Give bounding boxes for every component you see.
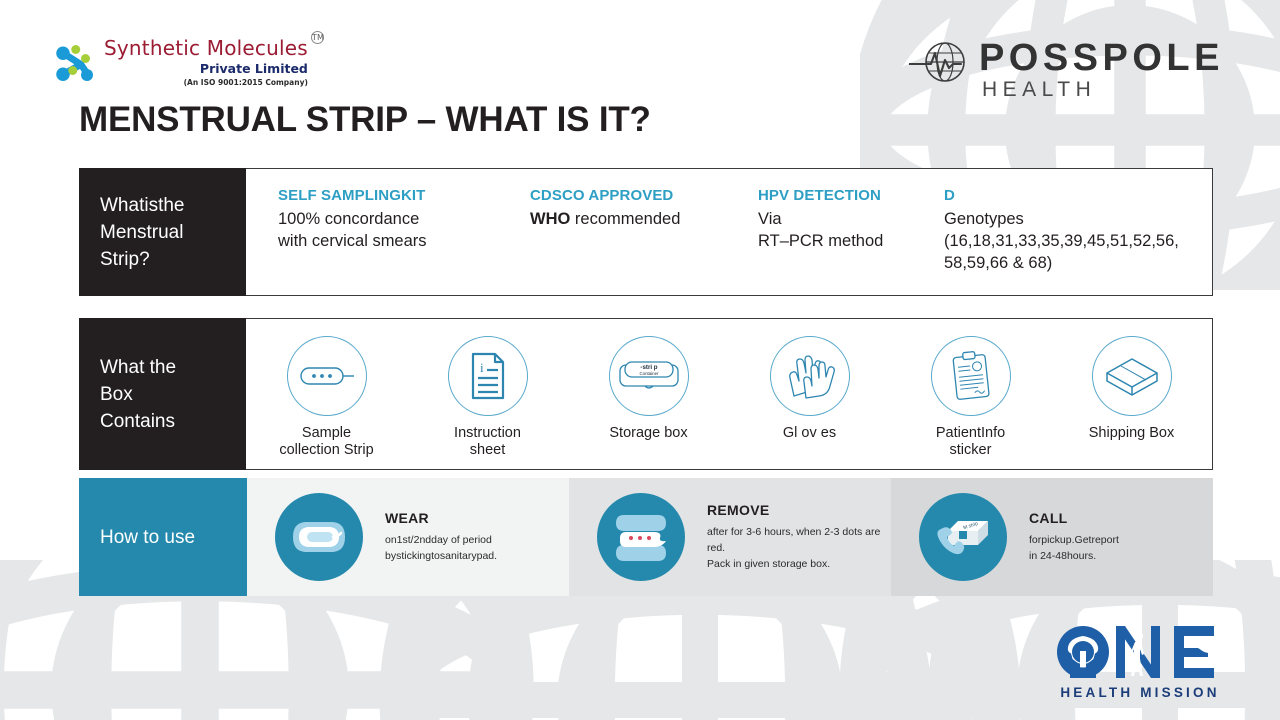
feature-body: 100% concordance with cervical smears — [278, 208, 530, 252]
box-item-sample-collection-strip: Sample collection Strip — [246, 336, 407, 459]
row3-label: How to use — [79, 478, 247, 596]
row-what-the-box-contains: What the Box Contains Sample — [79, 318, 1213, 470]
phone-package-icon: M strip — [928, 511, 998, 563]
step-text: WEAR on1st/2ndday of period bystickingto… — [385, 510, 497, 564]
row2-content: Sample collection Strip i — [246, 319, 1212, 469]
box-item-gloves: Gl ov es — [729, 336, 890, 442]
caption-line: Shipping Box — [1089, 425, 1174, 442]
row-how-to-use: How to use WEAR on1st/2ndday of period b… — [79, 478, 1213, 596]
row1-content: SELF SAMPLINGKIT 100% concordance with c… — [246, 169, 1212, 295]
box-item-caption: Storage box — [609, 425, 687, 442]
storage-box-icon: -stri p Container — [616, 359, 682, 393]
row1-label-line-2: Menstrual — [100, 219, 184, 246]
logo-company-name-text: Synthetic Molecules — [104, 36, 308, 60]
logo-company-name: Synthetic Molecules TM — [104, 36, 308, 60]
logo-company-subtitle: Private Limited — [104, 61, 308, 76]
instruction-sheet-icon: i — [467, 351, 509, 401]
row2-label-line-2: Box — [100, 381, 176, 408]
one-health-mission-subtitle: HEALTH MISSION — [1056, 685, 1224, 700]
step-icon-frame: M strip — [919, 493, 1007, 581]
step-line: on1st/2ndday of period — [385, 532, 497, 548]
posspole-health-logo: POSSPOLE HEALTH — [909, 38, 1224, 102]
feature-bold-token: WHO — [530, 210, 570, 228]
box-item-instruction-sheet: i Instruction sheet — [407, 336, 568, 459]
step-call: M strip CALL forpickup.Getreport in 24-4… — [891, 478, 1213, 596]
feature-line: recommended — [570, 210, 680, 228]
feature-body: Via RT–PCR method — [758, 208, 944, 252]
storage-box-icon-label-bottom: Container — [639, 371, 659, 376]
feature-line: Genotypes — [944, 208, 1204, 230]
row1-label-line-1: Whatisthe — [100, 192, 184, 219]
row3-content: WEAR on1st/2ndday of period bystickingto… — [247, 478, 1213, 596]
circle-frame — [287, 336, 367, 416]
caption-line: sheet — [454, 442, 521, 459]
feature-cdsco-approved: CDSCO APPROVED WHO recommended — [530, 187, 758, 295]
trademark-icon: TM — [311, 31, 324, 44]
step-line: after for 3-6 hours, when 2-3 dots are r… — [707, 524, 891, 556]
strip-dots-icon — [608, 509, 674, 565]
step-line: in 24-48hours. — [1029, 548, 1119, 564]
row2-label: What the Box Contains — [79, 318, 246, 470]
box-item-caption: Gl ov es — [783, 425, 836, 442]
feature-head: D — [944, 187, 1204, 204]
feature-line: 100% concordance — [278, 208, 530, 230]
caption-line: sticker — [936, 442, 1005, 459]
caption-line: collection Strip — [279, 442, 373, 459]
row2-label-line-1: What the — [100, 354, 176, 381]
step-title: CALL — [1029, 510, 1119, 526]
one-health-mission-logo: HEALTH MISSION — [1056, 624, 1224, 700]
step-line: forpickup.Getreport — [1029, 532, 1119, 548]
gloves-icon — [784, 352, 836, 400]
box-item-shipping-box: Shipping Box — [1051, 336, 1212, 442]
row1-label: Whatisthe Menstrual Strip? — [79, 168, 246, 296]
caption-line: PatientInfo — [936, 425, 1005, 442]
step-title: WEAR — [385, 510, 497, 526]
row1-label-line-3: Strip? — [100, 246, 184, 273]
storage-box-icon-label-top: -stri p — [640, 364, 657, 371]
feature-body: WHO recommended — [530, 208, 758, 230]
logo-iso-note: (An ISO 9001:2015 Company) — [104, 78, 308, 87]
box-item-caption: Shipping Box — [1089, 425, 1174, 442]
feature-body: Genotypes (16,18,31,33,35,39,45,51,52,56… — [944, 208, 1204, 274]
page-title: MENSTRUAL STRIP – WHAT IS IT? — [79, 100, 651, 140]
step-icon-frame — [275, 493, 363, 581]
shipping-box-icon — [1103, 354, 1161, 398]
molecule-icon — [52, 42, 98, 84]
synthetic-molecules-logo: Synthetic Molecules TM Private Limited (… — [52, 36, 282, 98]
step-remove: REMOVE after for 3-6 hours, when 2-3 dot… — [569, 478, 891, 596]
box-item-caption: Instruction sheet — [454, 425, 521, 459]
feature-line: 58,59,66 & 68) — [944, 252, 1204, 274]
feature-self-sampling-kit: SELF SAMPLINGKIT 100% concordance with c… — [278, 187, 530, 295]
slide: Synthetic Molecules TM Private Limited (… — [0, 0, 1280, 720]
box-item-storage-box: -stri p Container Storage box — [568, 336, 729, 442]
step-line: bystickingtosanitarypad. — [385, 548, 497, 564]
sample-collection-strip-icon — [296, 359, 358, 393]
sanitary-pad-strip-icon — [283, 511, 355, 563]
feature-head: SELF SAMPLINGKIT — [278, 187, 530, 204]
patient-info-sticker-icon — [947, 349, 995, 403]
circle-frame: -stri p Container — [609, 336, 689, 416]
step-text: REMOVE after for 3-6 hours, when 2-3 dot… — [707, 502, 891, 572]
feature-hpv-detection: HPV DETECTION Via RT–PCR method — [758, 187, 944, 295]
caption-line: Instruction — [454, 425, 521, 442]
row2-label-line-3: Contains — [100, 408, 176, 435]
feature-line: with cervical smears — [278, 230, 530, 252]
box-item-caption: Sample collection Strip — [279, 425, 373, 459]
step-wear: WEAR on1st/2ndday of period bystickingto… — [247, 478, 569, 596]
caption-line: Gl ov es — [783, 425, 836, 442]
svg-text:i: i — [480, 360, 484, 375]
feature-head: HPV DETECTION — [758, 187, 944, 204]
feature-line: Via — [758, 208, 944, 230]
step-title: REMOVE — [707, 502, 891, 518]
feature-genotypes: D Genotypes (16,18,31,33,35,39,45,51,52,… — [944, 187, 1204, 295]
feature-head: CDSCO APPROVED — [530, 187, 758, 204]
step-line: Pack in given storage box. — [707, 556, 891, 572]
box-item-caption: PatientInfo sticker — [936, 425, 1005, 459]
feature-line: (16,18,31,33,35,39,45,51,52,56, — [944, 230, 1204, 252]
circle-frame: i — [448, 336, 528, 416]
one-health-mission-icon — [1056, 624, 1224, 682]
caption-line: Storage box — [609, 425, 687, 442]
posspole-wordmark: POSSPOLE — [979, 38, 1224, 78]
globe-ekg-icon — [909, 40, 969, 92]
box-item-patient-info-sticker: PatientInfo sticker — [890, 336, 1051, 459]
circle-frame — [931, 336, 1011, 416]
step-icon-frame — [597, 493, 685, 581]
circle-frame — [1092, 336, 1172, 416]
circle-frame — [770, 336, 850, 416]
posspole-subtitle: HEALTH — [982, 78, 1224, 102]
step-text: CALL forpickup.Getreport in 24-48hours. — [1029, 510, 1119, 564]
caption-line: Sample — [279, 425, 373, 442]
feature-line: RT–PCR method — [758, 230, 944, 252]
row-what-is-the-strip: Whatisthe Menstrual Strip? SELF SAMPLING… — [79, 168, 1213, 296]
